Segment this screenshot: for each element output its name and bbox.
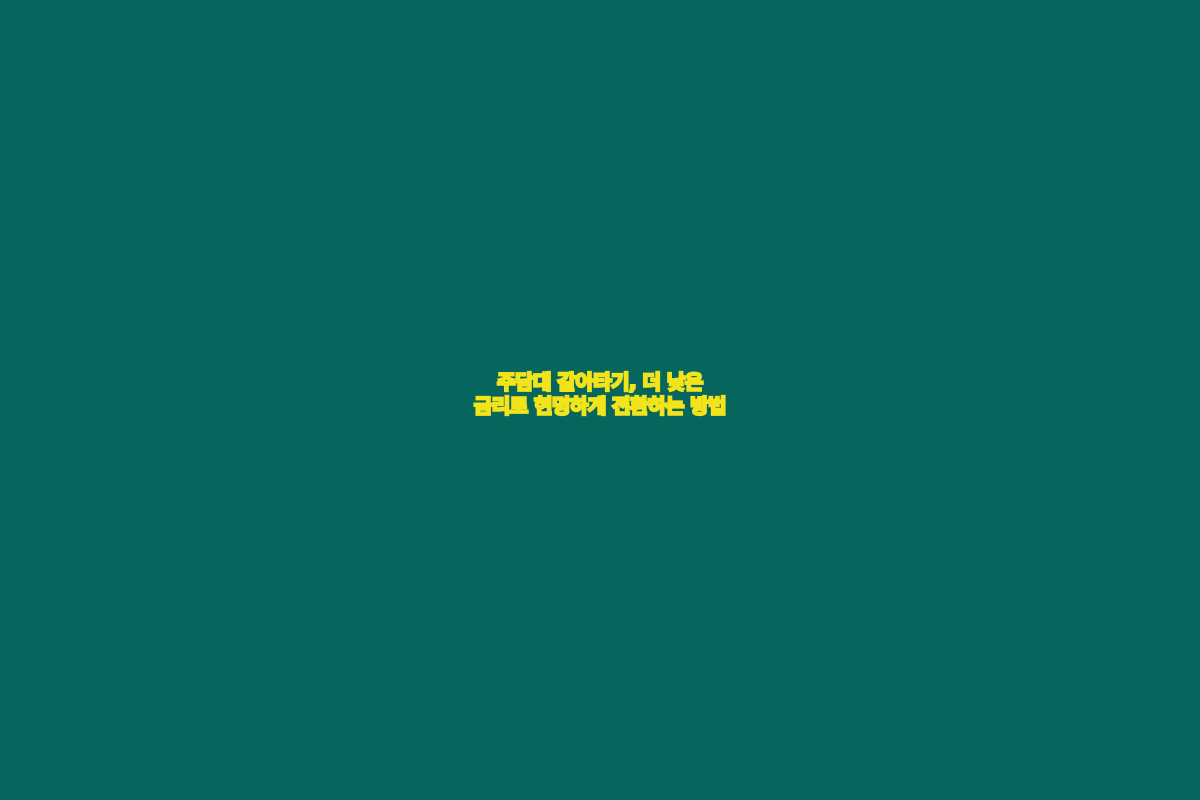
page-title: 주담대 갈아타기, 더 낮은 금리로 현명하게 전환하는 방법 <box>0 370 1200 419</box>
title-card: 주담대 갈아타기, 더 낮은 금리로 현명하게 전환하는 방법 <box>0 0 1200 800</box>
headline-line-1: 주담대 갈아타기, 더 낮은 <box>0 370 1200 394</box>
headline-line-2: 금리로 현명하게 전환하는 방법 <box>0 394 1200 418</box>
